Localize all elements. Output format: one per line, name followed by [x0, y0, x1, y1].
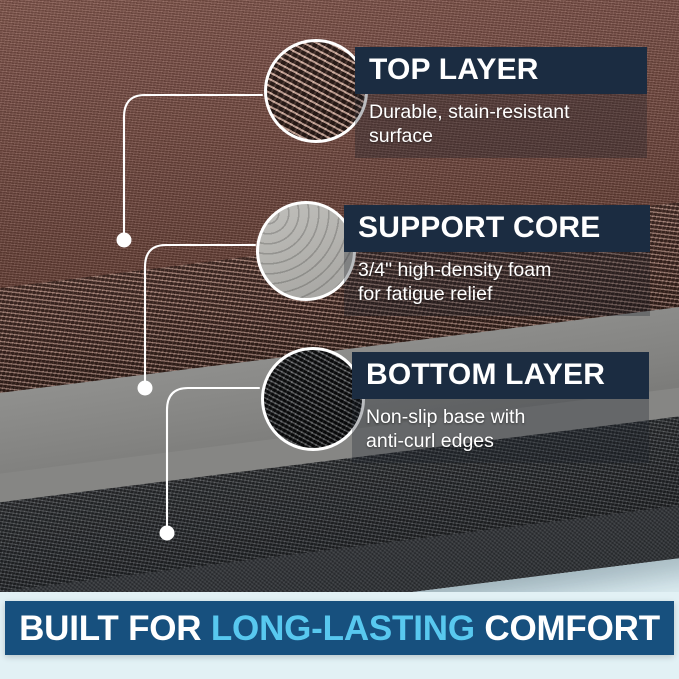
callout-top-layer-title: TOP LAYER — [355, 47, 647, 94]
callout-bottom-layer-description: Non-slip base with anti-curl edges — [352, 399, 649, 463]
top-layer-texture-swatch-icon — [264, 39, 368, 143]
tagline-suffix: COMFORT — [475, 609, 660, 648]
infographic-canvas: TOP LAYER Durable, stain-resistant surfa… — [0, 0, 679, 679]
bottom-layer-texture-swatch-icon — [261, 347, 365, 451]
tagline-text: BUILT FOR LONG-LASTING COMFORT — [19, 611, 660, 646]
tagline-prefix: BUILT FOR — [19, 609, 211, 648]
product-photo: TOP LAYER Durable, stain-resistant surfa… — [0, 0, 679, 592]
callout-top-layer-description: Durable, stain-resistant surface — [355, 94, 647, 158]
callout-bottom-layer-title: BOTTOM LAYER — [352, 352, 649, 399]
callout-support-core-description: 3/4" high-density foam for fatigue relie… — [344, 252, 650, 316]
support-core-texture-swatch-icon — [256, 201, 356, 301]
callout-support-core-title: SUPPORT CORE — [344, 205, 650, 252]
tagline-highlight: LONG-LASTING — [211, 609, 475, 648]
callout-bottom-layer: BOTTOM LAYER Non-slip base with anti-cur… — [352, 352, 649, 463]
tagline-banner: BUILT FOR LONG-LASTING COMFORT — [5, 601, 674, 655]
callout-support-core: SUPPORT CORE 3/4" high-density foam for … — [344, 205, 650, 316]
callout-top-layer: TOP LAYER Durable, stain-resistant surfa… — [355, 47, 647, 158]
